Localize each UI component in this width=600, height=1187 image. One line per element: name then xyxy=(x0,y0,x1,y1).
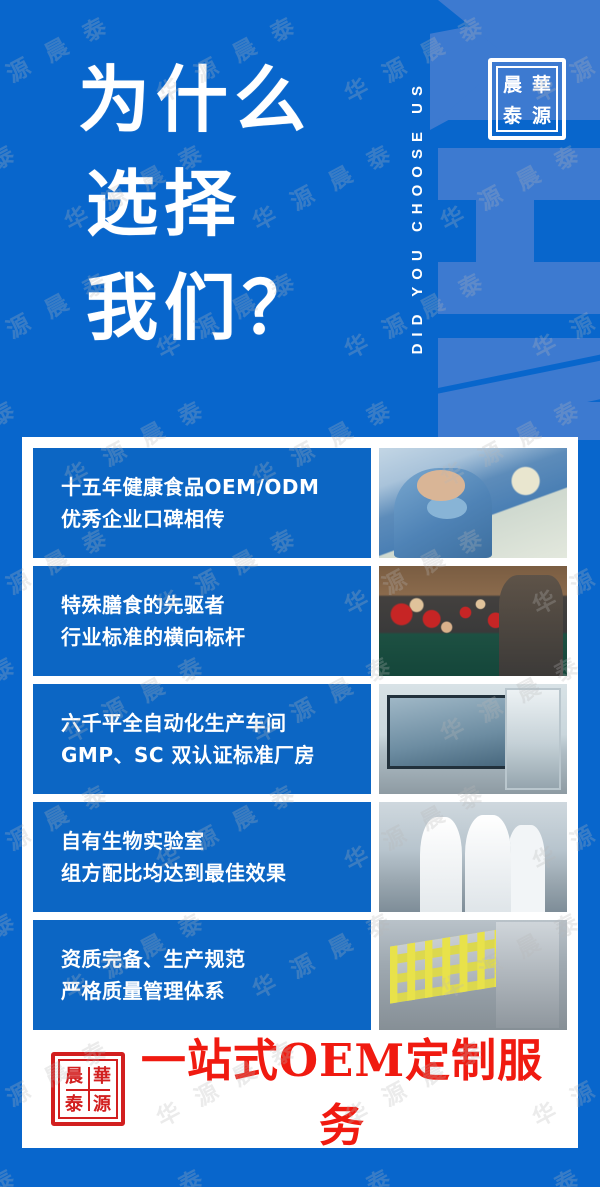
headline-line-1: 为什么 xyxy=(78,48,320,152)
photo-art xyxy=(379,802,567,912)
benefit-photo-clean-room-corridor xyxy=(379,684,567,794)
poster-root: 为什么 选择 我们？ DID YOU CHOOSE US 晨 華 泰 源 十五年… xyxy=(0,0,600,1187)
watermark-text: 华 源 晨 泰 xyxy=(433,1157,588,1187)
banner-seal-char-bottom-left: 泰 xyxy=(60,1089,88,1117)
benefit-line-2: 行业标准的横向标杆 xyxy=(61,621,371,653)
banner-seal-grid: 晨 華 泰 源 xyxy=(58,1059,118,1119)
benefit-line-1: 特殊膳食的先驱者 xyxy=(61,589,371,621)
deco-h-mid xyxy=(476,200,534,262)
benefit-line-1: 资质完备、生产规范 xyxy=(61,943,371,975)
benefit-photo-conference-audience-hall xyxy=(379,566,567,676)
benefit-photo-lab-technician-inspecting-vial xyxy=(379,448,567,558)
cta-banner: 晨 華 泰 源 一站式OEM定制服务 xyxy=(33,1041,567,1137)
benefit-line-2: 严格质量管理体系 xyxy=(61,975,371,1007)
watermark-text: 华 源 晨 泰 xyxy=(245,1157,400,1187)
brand-seal-char-top-right: 華 xyxy=(527,68,556,99)
brand-seal-char-top-left: 晨 xyxy=(498,68,527,99)
watermark-text: 华 源 晨 泰 xyxy=(57,1157,212,1187)
benefit-line-2: GMP、SC 双认证标准厂房 xyxy=(61,739,371,771)
deco-y-bottom xyxy=(438,402,600,440)
benefits-panel: 十五年健康食品OEM/ODM 优秀企业口碑相传 特殊膳食的先驱者 行业标准的横向… xyxy=(22,437,578,1148)
cta-banner-text: 一站式OEM定制服务 xyxy=(125,1024,567,1154)
headline-line-2: 选择 xyxy=(78,152,320,256)
benefit-photo-blister-packing-machine xyxy=(379,920,567,1030)
benefit-text-block: 自有生物实验室 组方配比均达到最佳效果 xyxy=(33,802,371,912)
benefit-line-2: 优秀企业口碑相传 xyxy=(61,503,371,535)
benefit-line-1: 六千平全自动化生产车间 xyxy=(61,707,371,739)
deco-h-bottom xyxy=(438,262,600,314)
watermark-text: 华 源 晨 泰 xyxy=(245,1157,400,1187)
benefit-text-block: 资质完备、生产规范 严格质量管理体系 xyxy=(33,920,371,1030)
photo-art xyxy=(379,684,567,794)
vertical-english-caption: DID YOU CHOOSE US xyxy=(405,22,429,412)
banner-seal-char-top-left: 晨 xyxy=(60,1061,88,1089)
benefit-line-2: 组方配比均达到最佳效果 xyxy=(61,857,371,889)
benefit-line-1: 自有生物实验室 xyxy=(61,825,371,857)
benefit-row: 自有生物实验室 组方配比均达到最佳效果 xyxy=(33,802,567,912)
benefit-row: 十五年健康食品OEM/ODM 优秀企业口碑相传 xyxy=(33,448,567,558)
benefit-photo-technicians-production-line xyxy=(379,802,567,912)
brand-seal-char-bottom-left: 泰 xyxy=(498,99,527,130)
benefit-row: 资质完备、生产规范 严格质量管理体系 xyxy=(33,920,567,1030)
benefit-text-block: 六千平全自动化生产车间 GMP、SC 双认证标准厂房 xyxy=(33,684,371,794)
brand-seal-grid: 晨 華 泰 源 xyxy=(496,66,558,132)
benefit-text-block: 特殊膳食的先驱者 行业标准的横向标杆 xyxy=(33,566,371,676)
banner-seal-red: 晨 華 泰 源 xyxy=(51,1052,125,1126)
benefit-text-block: 十五年健康食品OEM/ODM 优秀企业口碑相传 xyxy=(33,448,371,558)
brand-seal-char-bottom-right: 源 xyxy=(527,99,556,130)
brand-seal-white: 晨 華 泰 源 xyxy=(488,58,566,140)
watermark-text: 华 源 晨 泰 xyxy=(433,1157,588,1187)
deco-h-top xyxy=(438,148,600,200)
benefit-row: 特殊膳食的先驱者 行业标准的横向标杆 xyxy=(33,566,567,676)
benefit-row: 六千平全自动化生产车间 GMP、SC 双认证标准厂房 xyxy=(33,684,567,794)
photo-art xyxy=(379,566,567,676)
watermark-text: 华 源 晨 泰 xyxy=(0,1157,25,1187)
vertical-english-text: DID YOU CHOOSE US xyxy=(409,79,426,354)
benefit-line-1: 十五年健康食品OEM/ODM xyxy=(61,471,371,503)
headline-line-3: 我们？ xyxy=(78,256,320,360)
watermark-text: 华 源 晨 泰 xyxy=(57,1157,212,1187)
photo-art xyxy=(379,448,567,558)
photo-art xyxy=(379,920,567,1030)
page-title: 为什么 选择 我们？ xyxy=(78,48,320,360)
banner-seal-char-bottom-right: 源 xyxy=(88,1089,116,1117)
watermark-text: 华 源 晨 泰 xyxy=(0,1157,25,1187)
banner-seal-divider-horizontal xyxy=(66,1089,110,1091)
banner-seal-char-top-right: 華 xyxy=(88,1061,116,1089)
